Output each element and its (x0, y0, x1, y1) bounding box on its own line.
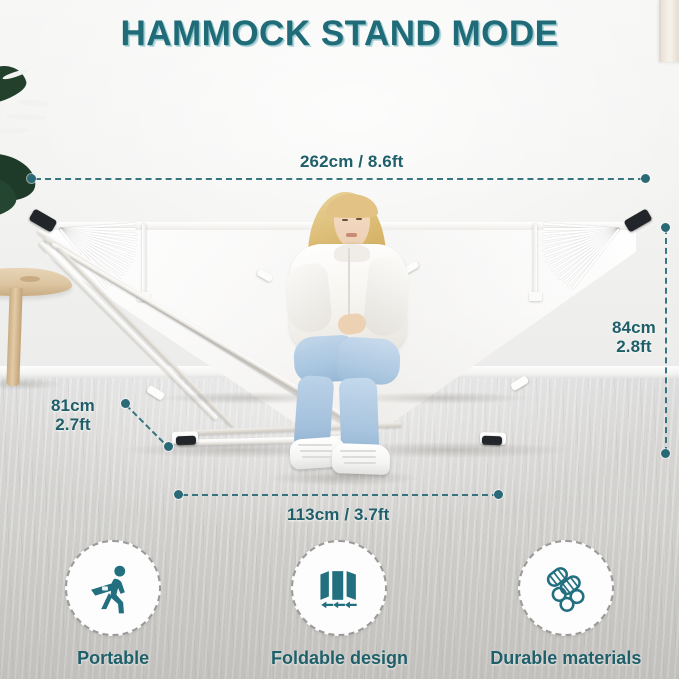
dimension-dot (641, 174, 650, 183)
lips (346, 233, 357, 237)
feature-label: Portable (77, 648, 149, 669)
dimension-hammock-cm: 81cm (51, 396, 95, 415)
sneaker-lace (300, 450, 332, 452)
dimension-label-hammock-height: 81cm 2.7ft (51, 396, 95, 434)
dimension-line-top (35, 178, 644, 180)
feature-foldable[interactable]: Foldable design (239, 540, 439, 669)
dimension-label-width: 113cm / 3.7ft (287, 505, 389, 525)
sneaker-lace (298, 444, 332, 446)
hoodie-zipper (348, 248, 350, 324)
jeans-shin-right (339, 377, 380, 452)
dimension-label-length: 262cm / 8.6ft (300, 152, 403, 172)
feature-icon-circle (65, 540, 161, 636)
dimension-dot (661, 223, 670, 232)
eye (342, 219, 348, 221)
feature-icon-circle (291, 540, 387, 636)
dimension-dot (494, 490, 503, 499)
seated-model (282, 186, 408, 478)
sneaker-lace (342, 456, 376, 458)
hoodie-collar (334, 244, 370, 262)
spreader-foot (529, 292, 542, 301)
sneaker-lace (340, 450, 376, 452)
dimension-dot (661, 449, 670, 458)
feature-row: Portable Foldable design (0, 540, 679, 679)
hammock-spreader-right (533, 222, 623, 302)
dimension-label-height: 84cm 2.8ft (612, 318, 656, 356)
eye (356, 218, 362, 220)
dimension-dot (174, 490, 183, 499)
portable-person-icon (86, 561, 140, 615)
feature-icon-circle (518, 540, 614, 636)
feature-label: Foldable design (271, 648, 408, 669)
feature-label: Durable materials (490, 648, 641, 669)
dimension-dot (164, 442, 173, 451)
dimension-height-ft: 2.8ft (616, 337, 651, 356)
dimension-line-right (665, 228, 667, 453)
product-infographic: 262cm / 8.6ft 84cm 2.8ft 81cm 2.7ft 113c… (0, 0, 679, 679)
sneaker-right (331, 443, 390, 475)
dimension-dot (27, 174, 36, 183)
dimension-line-bottom (182, 494, 498, 496)
dimension-hammock-ft: 2.7ft (55, 415, 90, 434)
feature-portable[interactable]: Portable (13, 540, 213, 669)
dimension-height-cm: 84cm (612, 318, 656, 337)
side-table-detail (20, 276, 40, 282)
sneaker-lace (344, 462, 376, 464)
spreader-bar (533, 224, 537, 296)
dimension-dot (121, 399, 130, 408)
foldable-panels-icon (312, 561, 366, 615)
page-title: HAMMOCK STAND MODE (0, 14, 679, 54)
monstera-plant (0, 62, 72, 187)
sneaker-lace (302, 456, 332, 458)
feature-durable[interactable]: Durable materials (466, 540, 666, 669)
durable-tubes-icon (539, 561, 593, 615)
spreader-bar (142, 224, 146, 296)
